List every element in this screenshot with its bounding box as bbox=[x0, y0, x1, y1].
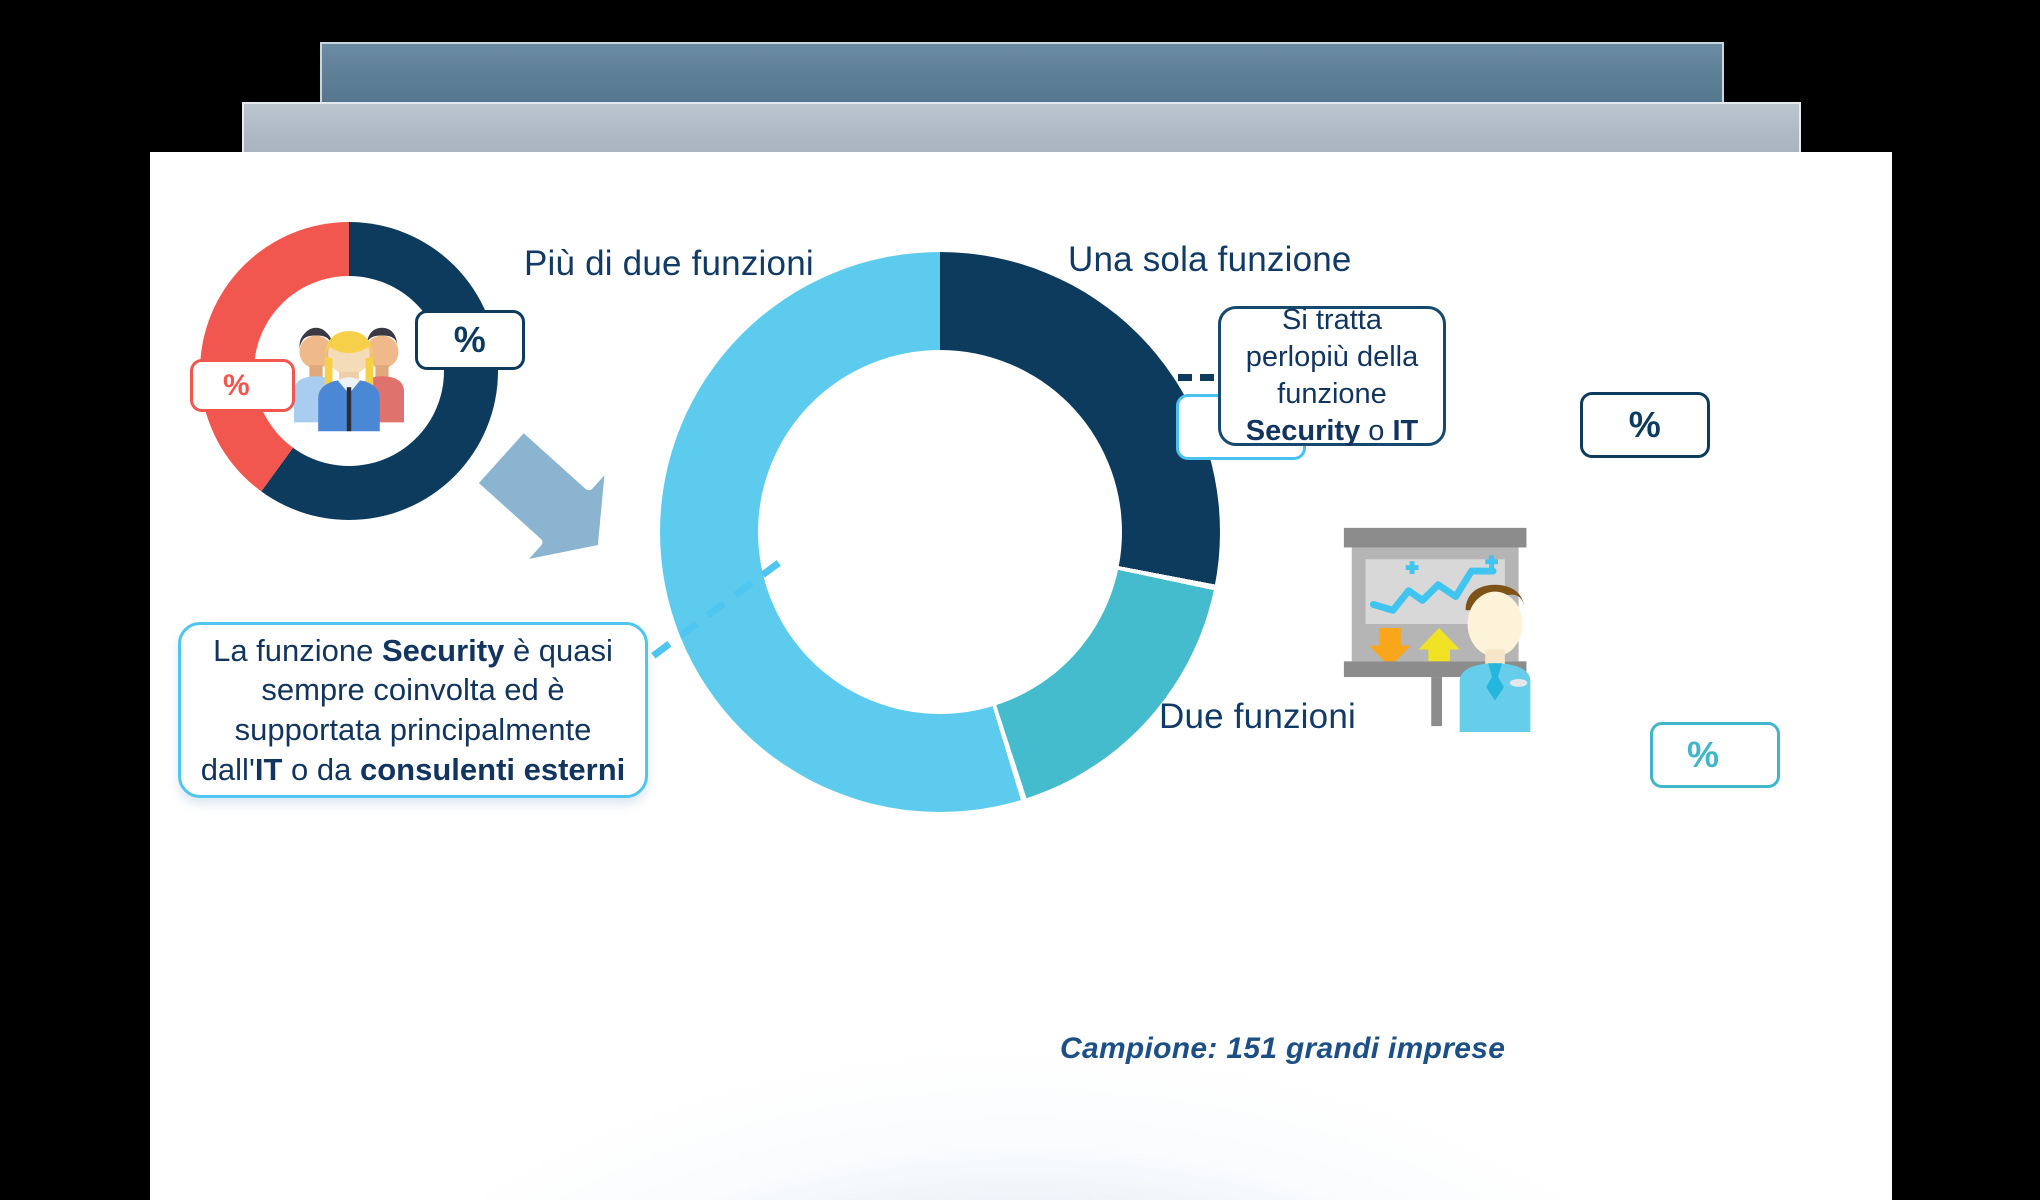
callout-right-bold-security: Security bbox=[1246, 415, 1360, 447]
callout-left-b1: Security bbox=[382, 633, 504, 668]
header-bar-middle bbox=[242, 102, 1801, 156]
label-two-functions: Due funzioni bbox=[1159, 697, 1356, 737]
label-more-than-two-functions: Più di due funzioni bbox=[524, 244, 814, 284]
large-donut-badge-two[interactable]: % bbox=[1650, 722, 1780, 788]
bottom-glow bbox=[150, 990, 1892, 1200]
slide-canvas: % % bbox=[0, 0, 2040, 1200]
small-donut-badge-navy[interactable]: % bbox=[415, 310, 525, 370]
presenter-chart-icon bbox=[1336, 520, 1552, 732]
header-bar-top bbox=[320, 42, 1724, 104]
callout-right-line1: Si tratta bbox=[1282, 304, 1382, 336]
slide-card: % % bbox=[150, 152, 1892, 1200]
transition-arrow bbox=[450, 402, 650, 602]
people-group-icon bbox=[283, 308, 415, 440]
callout-left-b2: IT bbox=[255, 752, 283, 787]
label-one-function: Una sola funzione bbox=[1068, 240, 1352, 280]
callout-security-function: La funzione Security è quasi sempre coin… bbox=[178, 622, 648, 798]
callout-one-function: Si tratta perlopiù della funzione Securi… bbox=[1218, 306, 1446, 446]
callout-right-line3: funzione bbox=[1277, 378, 1387, 410]
callout-right-bold-it: IT bbox=[1392, 415, 1418, 447]
large-donut-badge-one[interactable]: % bbox=[1580, 392, 1710, 458]
callout-right-line2: perlopiù della bbox=[1246, 341, 1419, 373]
callout-right-mid: o bbox=[1360, 415, 1392, 447]
large-donut-chart[interactable]: % % % bbox=[660, 252, 1220, 812]
callout-left-b3: consulenti esterni bbox=[360, 752, 625, 787]
callout-left-t1: La funzione bbox=[213, 633, 382, 668]
callout-left-t3: o da bbox=[282, 752, 360, 787]
large-donut-hole bbox=[758, 350, 1122, 714]
sample-size-note: Campione: 151 grandi imprese bbox=[1060, 1032, 1505, 1066]
connector-dashed-navy bbox=[1156, 374, 1214, 381]
small-donut-badge-red[interactable]: % bbox=[190, 359, 295, 412]
